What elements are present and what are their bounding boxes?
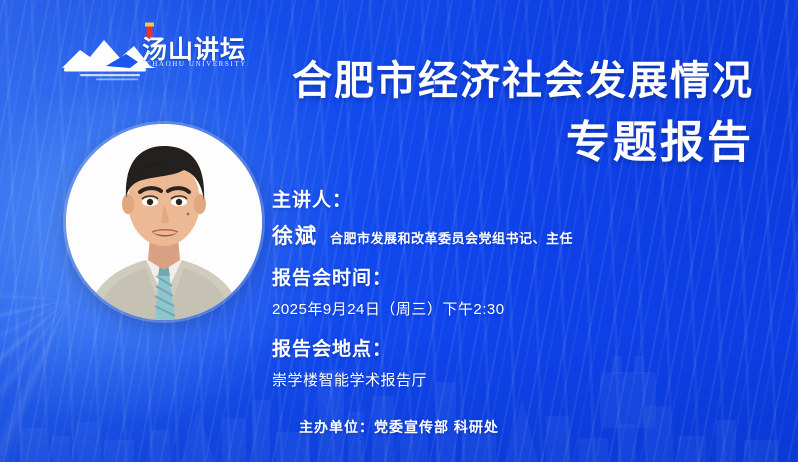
brand-logo: 汤山讲坛 CHAOHU UNIVERSITY [60, 22, 240, 84]
spacer [272, 321, 692, 337]
headline-line-1: 合肥市经济社会发展情况 [292, 58, 754, 104]
time-value: 2025年9月24日（周三）下午2:30 [272, 299, 692, 321]
place-label: 报告会地点： [272, 337, 692, 363]
spacer [272, 250, 692, 266]
time-label: 报告会时间： [272, 266, 692, 292]
speaker-name: 徐斌 [272, 220, 318, 250]
poster-canvas: 汤山讲坛 CHAOHU UNIVERSITY 合肥市经济社会发展情况 专题报告 [0, 0, 798, 462]
headline-line-2: 专题报告 [292, 118, 754, 168]
event-details: 主讲人： 徐斌 合肥市发展和改革委员会党组书记、主任 报告会时间： 2025年9… [272, 188, 692, 392]
speaker-label: 主讲人： [272, 188, 692, 214]
portrait-photo [66, 124, 262, 320]
place-value: 崇学楼智能学术报告厅 [272, 370, 692, 392]
speaker-row: 徐斌 合肥市发展和改革委员会党组书记、主任 [272, 220, 692, 250]
logo-english-text: CHAOHU UNIVERSITY [146, 60, 247, 68]
headline-block: 合肥市经济社会发展情况 专题报告 [292, 58, 754, 168]
speaker-portrait [66, 124, 262, 320]
speaker-title: 合肥市发展和改革委员会党组书记、主任 [330, 228, 573, 247]
organizer-line: 主办单位：党委宣传部 科研处 [0, 417, 798, 437]
